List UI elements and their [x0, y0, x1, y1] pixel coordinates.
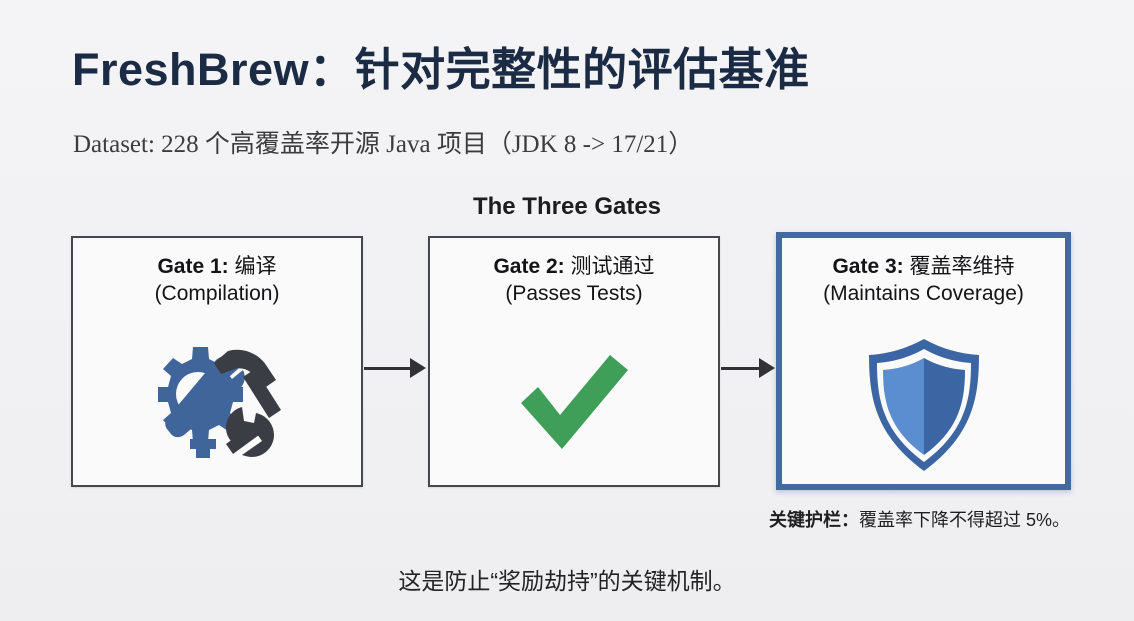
gate-3-label-rest: 覆盖率维持 [904, 255, 1015, 278]
gate-1-label-bold: Gate 1: [157, 255, 228, 278]
guardrail-note: 关键护栏：覆盖率下降不得超过 5%。 [769, 506, 1070, 532]
arrow-head [759, 358, 775, 378]
section-heading: The Three Gates [0, 193, 1134, 221]
arrow-head [410, 358, 426, 378]
dataset-subtitle: Dataset: 228 个高覆盖率开源 Java 项目（JDK 8 -> 17… [73, 124, 693, 160]
gate-2-box[interactable]: Gate 2: 测试通过 (Passes Tests) [428, 236, 720, 487]
arrow-gate2-to-gate3 [721, 361, 775, 375]
footer-note: 这是防止“奖励劫持”的关键机制。 [0, 562, 1134, 596]
slide-canvas: FreshBrew：针对完整性的评估基准 Dataset: 228 个高覆盖率开… [0, 0, 1134, 621]
blue-shield-icon [782, 330, 1065, 480]
gate-2-label: Gate 2: 测试通过 (Passes Tests) [430, 254, 718, 308]
gate-3-label-en: (Maintains Coverage) [782, 281, 1065, 308]
gate-2-label-rest: 测试通过 [565, 255, 655, 278]
gate-1-label-en: (Compilation) [73, 281, 361, 308]
gate-3-label-bold: Gate 3: [832, 255, 903, 278]
arrow-shaft [721, 367, 760, 370]
gate-1-label-rest: 编译 [229, 255, 277, 278]
arrow-gate1-to-gate2 [364, 361, 426, 375]
gate-3-label: Gate 3: 覆盖率维持 (Maintains Coverage) [782, 254, 1065, 308]
gate-2-label-bold: Gate 2: [493, 255, 564, 278]
gate-3-box[interactable]: Gate 3: 覆盖率维持 (Maintains Coverage) [776, 232, 1071, 490]
gate-2-label-en: (Passes Tests) [430, 281, 718, 308]
gate-1-label: Gate 1: 编译 (Compilation) [73, 254, 361, 308]
arrow-shaft [364, 367, 411, 370]
guardrail-label: 关键护栏： [769, 510, 859, 530]
page-title: FreshBrew：针对完整性的评估基准 [72, 33, 810, 98]
green-check-icon [430, 330, 718, 480]
guardrail-text: 覆盖率下降不得超过 5%。 [859, 510, 1070, 530]
gear-hammer-wrench-icon [73, 330, 361, 480]
gate-1-box[interactable]: Gate 1: 编译 (Compilation) [71, 236, 363, 487]
